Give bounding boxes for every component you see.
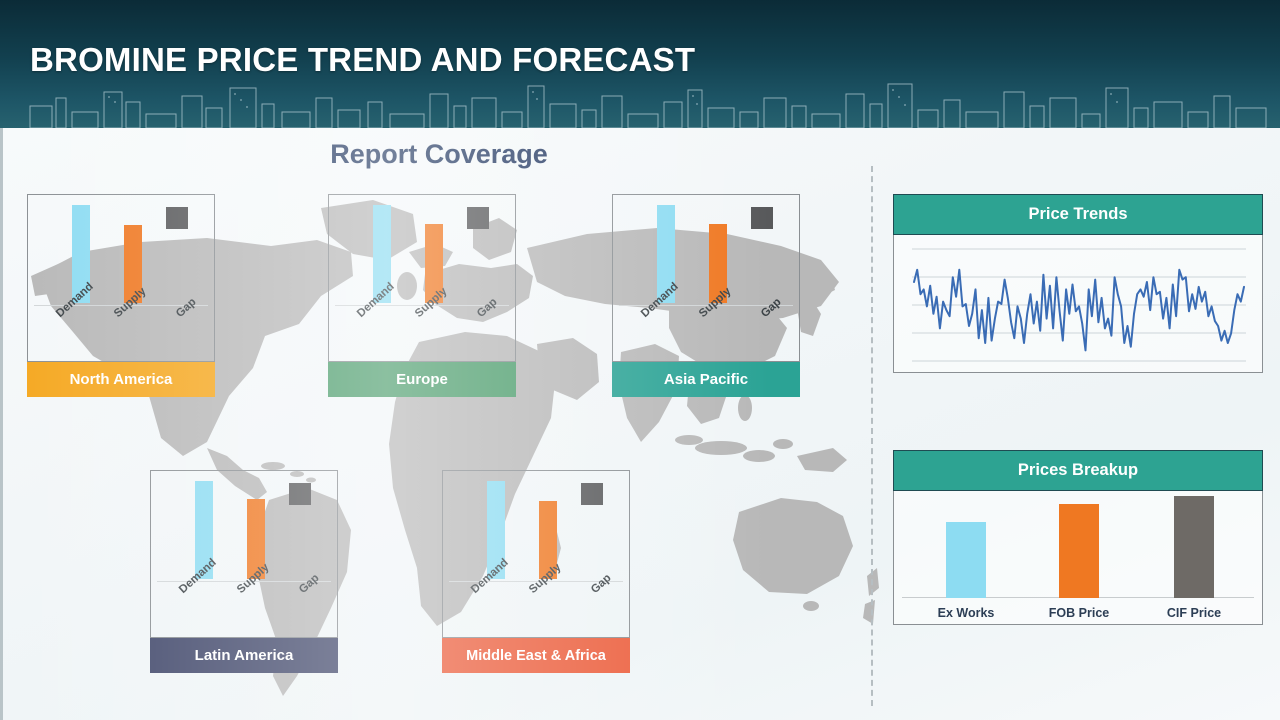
panel-title-price-trends: Price Trends (893, 194, 1263, 235)
axis-label-gap: Gap (174, 296, 199, 320)
region-card-latin-america[interactable]: Demand Supply Gap Latin America (150, 470, 338, 673)
region-label-europe: Europe (328, 362, 516, 397)
prices-breakup-chart: Ex Works FOB Price CIF Price (893, 491, 1263, 625)
panel-prices-breakup[interactable]: Prices Breakup Ex Works FOB Price CIF Pr… (893, 450, 1263, 625)
region-card-europe[interactable]: Demand Supply Gap Europe (328, 194, 516, 397)
bar-gap (289, 483, 311, 505)
region-chart-latin-america: Demand Supply Gap (150, 470, 338, 638)
line-chart-svg (894, 235, 1263, 373)
breakup-bar-cif-price (1174, 496, 1214, 598)
breakup-label-ex-works: Ex Works (916, 606, 1016, 620)
axis-label-gap: Gap (297, 572, 322, 596)
region-label-latin-america: Latin America (150, 638, 338, 673)
region-label-north-america: North America (27, 362, 215, 397)
panel-price-trends[interactable]: Price Trends (893, 194, 1263, 373)
price-trends-chart (893, 235, 1263, 373)
breakup-bar-ex-works (946, 522, 986, 598)
region-chart-north-america: Demand Supply Gap (27, 194, 215, 362)
region-label-middle-east-africa: Middle East & Africa (442, 638, 630, 673)
infographic-slide: BROMINE PRICE TREND AND FORECAST (0, 0, 1280, 720)
breakup-bar-fob-price (1059, 504, 1099, 598)
price-trend-line (914, 270, 1244, 351)
region-chart-middle-east-africa: Demand Supply Gap (442, 470, 630, 638)
region-card-north-america[interactable]: Demand Supply Gap North America (27, 194, 215, 397)
bar-gap (751, 207, 773, 229)
report-coverage-title: Report Coverage (3, 139, 875, 170)
region-card-asia-pacific[interactable]: Demand Supply Gap Asia Pacific (612, 194, 800, 397)
region-card-middle-east-africa[interactable]: Demand Supply Gap Middle East & Africa (442, 470, 630, 673)
bar-gap (581, 483, 603, 505)
bar-gap (467, 207, 489, 229)
axis-label-gap: Gap (759, 296, 784, 320)
breakup-label-cif-price: CIF Price (1144, 606, 1244, 620)
region-chart-europe: Demand Supply Gap (328, 194, 516, 362)
axis-label-gap: Gap (475, 296, 500, 320)
header-banner: BROMINE PRICE TREND AND FORECAST (0, 0, 1280, 128)
bar-gap (166, 207, 188, 229)
axis-label-gap: Gap (589, 572, 614, 596)
region-chart-asia-pacific: Demand Supply Gap (612, 194, 800, 362)
panel-title-prices-breakup: Prices Breakup (893, 450, 1263, 491)
region-label-asia-pacific: Asia Pacific (612, 362, 800, 397)
slide-body: Report Coverage Demand Supply Gap North … (0, 128, 1280, 720)
breakup-label-fob-price: FOB Price (1029, 606, 1129, 620)
page-title: BROMINE PRICE TREND AND FORECAST (30, 41, 695, 79)
panel-divider (871, 166, 873, 706)
